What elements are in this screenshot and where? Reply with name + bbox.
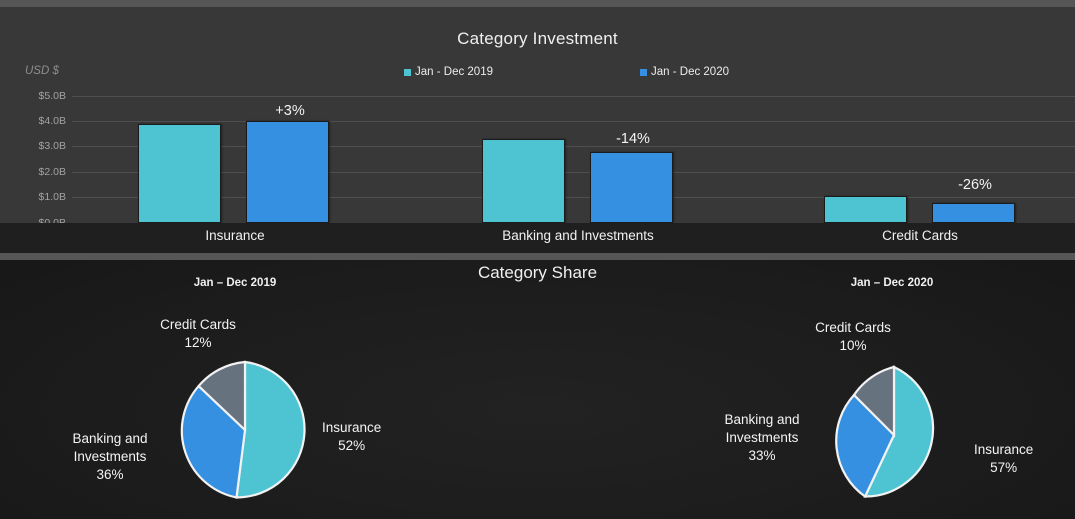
legend-swatch-2019-icon	[404, 69, 411, 76]
category-investment-panel: Category Investment Jan - Dec 2019 Jan -…	[0, 7, 1075, 253]
pie-2019-callout-credit-cards: Credit Cards 12%	[160, 316, 236, 352]
y-axis-unit-label: USD $	[25, 65, 59, 77]
category-label-credit-cards: Credit Cards	[882, 228, 958, 243]
bar-insurance-2020[interactable]	[246, 121, 329, 223]
legend-label-2019: Jan - Dec 2019	[415, 66, 493, 78]
delta-label-credit-cards: -26%	[958, 177, 992, 193]
legend-item-2020[interactable]: Jan - Dec 2020	[640, 66, 729, 78]
dashboard-root: Category Investment Jan - Dec 2019 Jan -…	[0, 0, 1075, 519]
pie-2019-cc-name: Credit Cards	[160, 317, 236, 332]
bar-credit-cards-2019[interactable]	[824, 196, 907, 223]
pie-2020-callout-banking: Banking and Investments 33%	[724, 411, 799, 464]
delta-label-banking: -14%	[616, 131, 650, 147]
pie-2019-banking-name-line2: Investments	[72, 448, 147, 466]
pie-2020-cc-pct: 10%	[815, 337, 891, 355]
pie-left-subtitle: Jan – Dec 2019	[194, 277, 276, 289]
pie-2019-cc-pct: 12%	[160, 334, 236, 352]
legend-swatch-2020-icon	[640, 69, 647, 76]
pie-2019-callout-banking: Banking and Investments 36%	[72, 430, 147, 483]
pie-2020-banking-name-line2: Investments	[724, 429, 799, 447]
pie-2020-banking-name-line1: Banking and	[724, 412, 799, 427]
legend-label-2020: Jan - Dec 2020	[651, 66, 729, 78]
pie-chart-2019[interactable]	[170, 355, 320, 505]
top-divider-band	[0, 0, 1075, 7]
delta-label-insurance: +3%	[275, 103, 304, 119]
bar-banking-2019[interactable]	[482, 139, 565, 223]
pie-2019-slice-insurance[interactable]	[237, 362, 305, 497]
y-tick-5b: $5.0B	[14, 90, 66, 102]
bar-insurance-2019[interactable]	[138, 124, 221, 223]
middle-divider-band	[0, 253, 1075, 260]
pie-2020-callout-credit-cards: Credit Cards 10%	[815, 319, 891, 355]
bar-credit-cards-2020[interactable]	[932, 203, 1015, 223]
category-label-banking: Banking and Investments	[502, 228, 654, 243]
pie-2020-callout-insurance: Insurance 57%	[974, 441, 1033, 477]
legend-item-2019[interactable]: Jan - Dec 2019	[404, 66, 493, 78]
y-tick-2b: $2.0B	[14, 166, 66, 178]
pie-2019-insurance-pct: 52%	[322, 437, 381, 455]
y-tick-1b: $1.0B	[14, 191, 66, 203]
pie-2019-callout-insurance: Insurance 52%	[322, 419, 381, 455]
pie-right-subtitle: Jan – Dec 2020	[851, 277, 933, 289]
bar-plot-area	[72, 96, 1075, 223]
pie-2020-insurance-pct: 57%	[974, 459, 1033, 477]
category-share-panel: Category Share Jan – Dec 2019 Credit Car…	[0, 260, 1075, 519]
pie-chart-2020[interactable]	[819, 360, 969, 510]
pie-2019-banking-pct: 36%	[72, 466, 147, 484]
pie-2020-cc-name: Credit Cards	[815, 320, 891, 335]
bar-banking-2020[interactable]	[590, 152, 673, 223]
pie-2020-banking-pct: 33%	[724, 447, 799, 465]
pie-2020-insurance-name: Insurance	[974, 442, 1033, 457]
bar-chart-title: Category Investment	[0, 29, 1075, 49]
pie-2019-insurance-name: Insurance	[322, 420, 381, 435]
y-tick-3b: $3.0B	[14, 140, 66, 152]
category-axis-strip: Insurance Banking and Investments Credit…	[0, 223, 1075, 253]
y-tick-4b: $4.0B	[14, 115, 66, 127]
pie-2019-banking-name-line1: Banking and	[72, 431, 147, 446]
category-label-insurance: Insurance	[205, 228, 264, 243]
